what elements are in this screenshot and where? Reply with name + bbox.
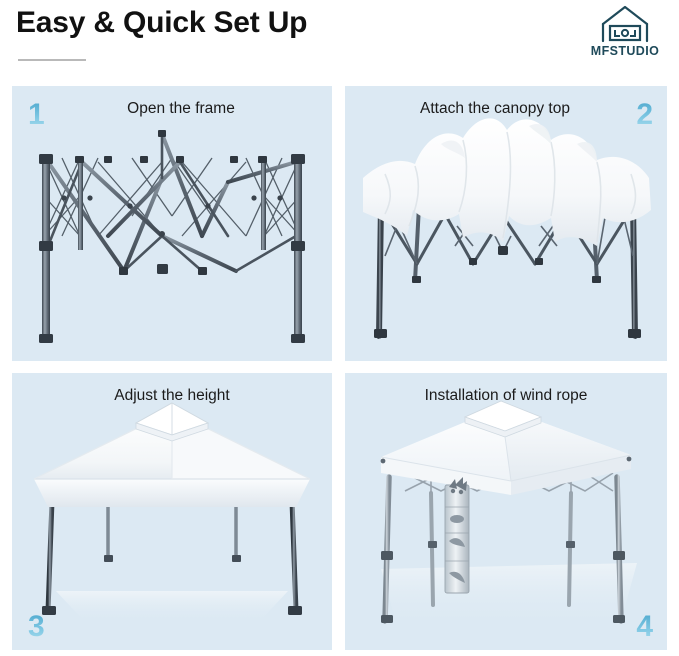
brand-name: MFSTUDIO [591,45,659,58]
page-header: Easy & Quick Set Up MFSTUDIO [0,0,679,80]
steps-grid: 1 Open the frame [0,80,679,656]
title-underline-rule [18,59,86,61]
house-logo-icon [597,4,653,44]
brand-logo: MFSTUDIO [579,4,671,64]
step-panel-1: 1 Open the frame [12,86,332,361]
step-panel-3: 3 Adjust the height [12,373,332,650]
wind-rope-bag [445,477,469,593]
folding-frame-expanded-icon [12,86,332,361]
canopy-fabric-draped-icon [345,86,667,361]
page-title: Easy & Quick Set Up [16,6,307,40]
step-panel-4: 4 Installation of wind rope [345,373,667,650]
step-panel-2: 2 Attach the canopy top [345,86,667,361]
canopy-angled-with-rope-bag-icon [345,373,667,650]
canopy-front-view-icon [12,373,332,650]
